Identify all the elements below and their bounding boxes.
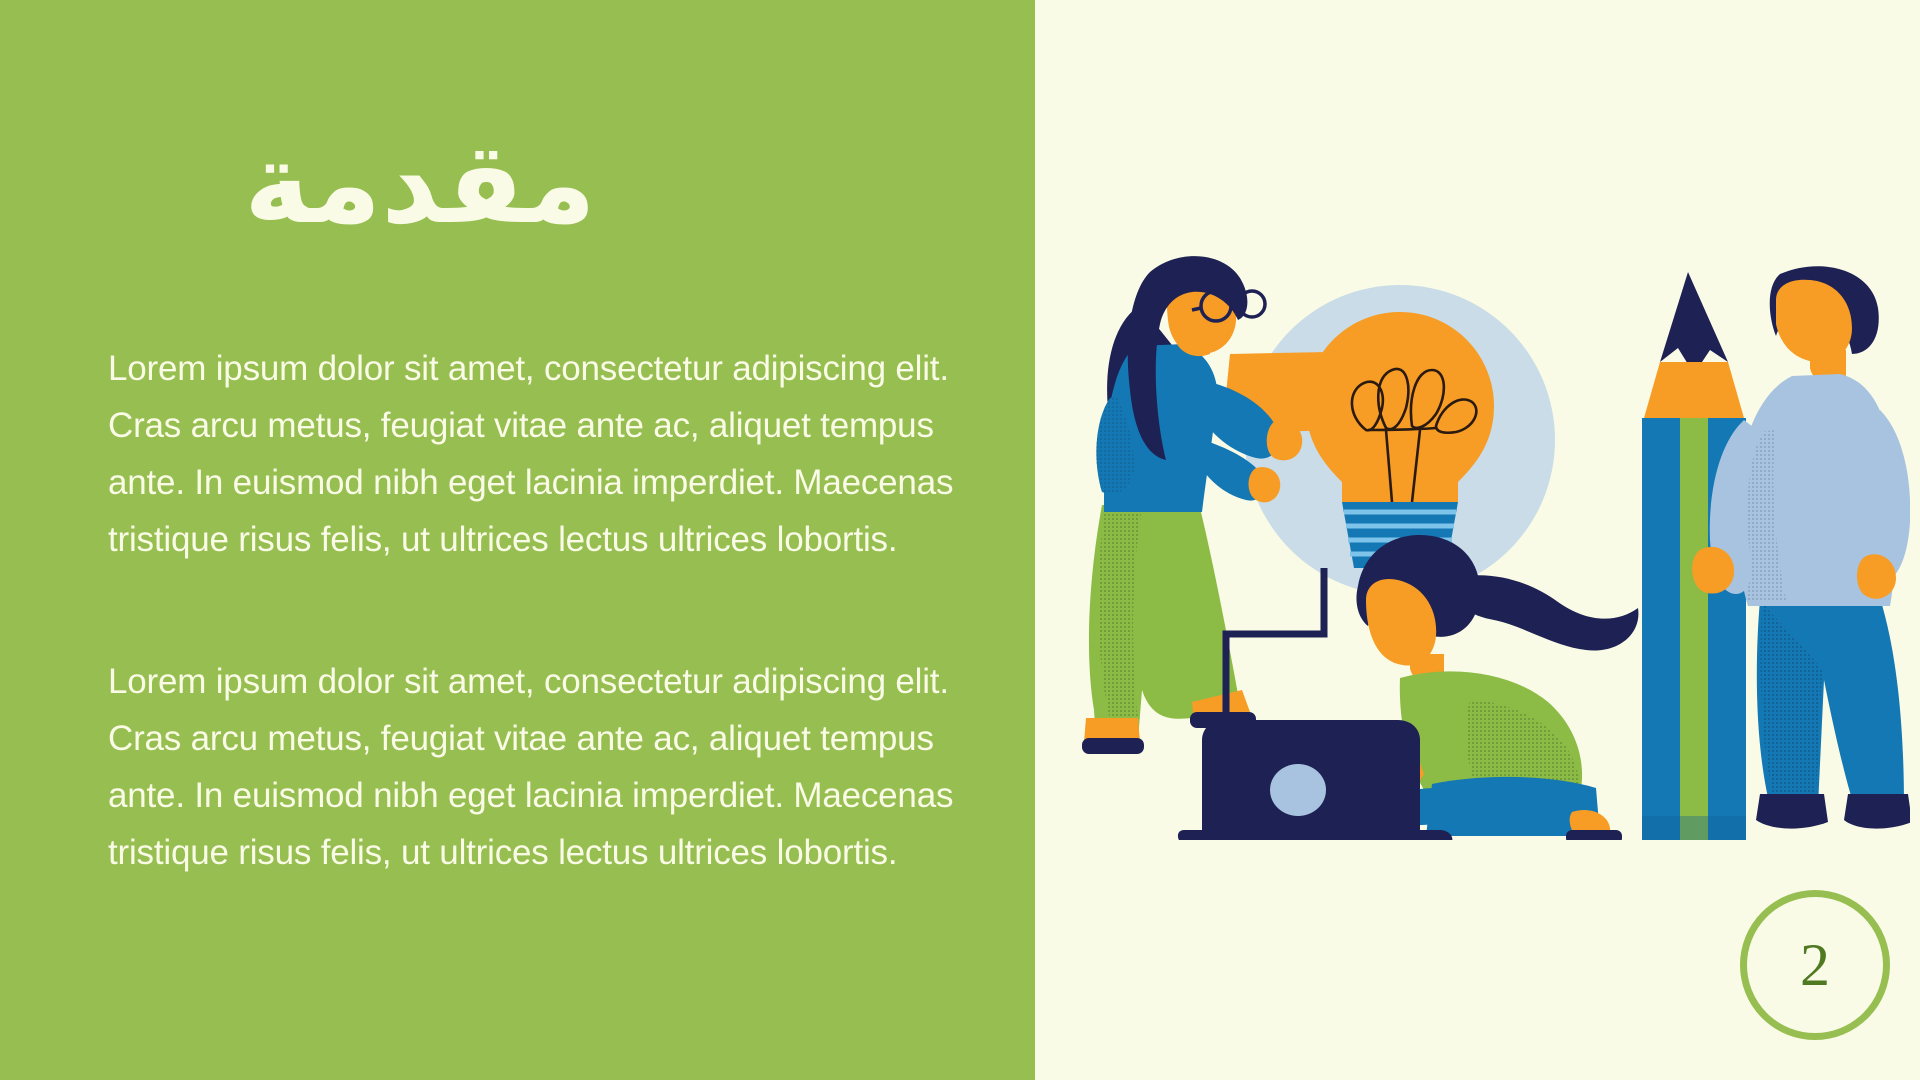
bulb-glass <box>1306 312 1494 502</box>
paragraph-1: Lorem ipsum dolor sit amet, consectetur … <box>108 340 968 568</box>
left-content-panel: مقدمة Lorem ipsum dolor sit amet, consec… <box>0 0 1035 1080</box>
pencil-body-left <box>1642 418 1680 840</box>
pencil-shadow-base <box>1642 816 1746 840</box>
woman-shoe-left-sole <box>1082 738 1144 754</box>
laptop <box>1178 720 1452 840</box>
man-shoe-left <box>1756 794 1828 829</box>
paragraph-2: Lorem ipsum dolor sit amet, consectetur … <box>108 653 968 881</box>
page-title: مقدمة <box>100 120 740 249</box>
girl-foot-sole <box>1566 830 1622 840</box>
slide-root: مقدمة Lorem ipsum dolor sit amet, consec… <box>0 0 1920 1080</box>
teamwork-idea-illustration <box>1080 250 1910 840</box>
page-number-badge: 2 <box>1740 890 1890 1040</box>
body-copy-block: Lorem ipsum dolor sit amet, consectetur … <box>108 340 968 881</box>
pencil-wood-cone <box>1644 362 1744 418</box>
pencil-body-stripe <box>1680 418 1708 840</box>
page-number-text: 2 <box>1800 935 1830 995</box>
pencil-lead-tip <box>1660 272 1728 374</box>
man-shoe-right <box>1844 794 1910 829</box>
laptop-logo <box>1270 764 1326 816</box>
laptop-base <box>1178 830 1452 840</box>
